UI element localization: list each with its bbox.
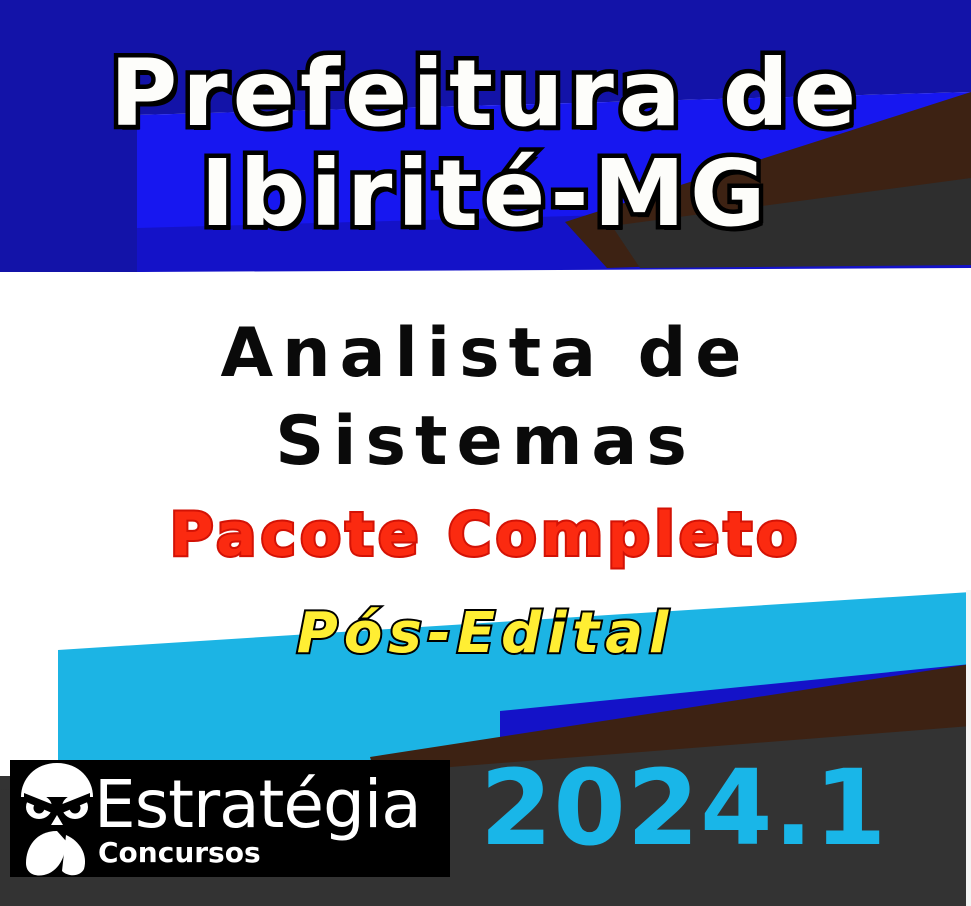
role-title-line-1: Analista de [0,320,971,388]
owl-icon [18,757,96,877]
package-label: Pacote Completo [0,505,971,565]
stage-badge: Pós-Edital [0,606,971,662]
year-label: 2024.1 [480,756,950,860]
role-title-line-2: Sistemas [0,408,971,476]
brand-subtitle: Concursos [98,836,261,869]
brand-name: Estratégia [94,766,421,843]
page-title-line-1: Prefeitura de [0,48,971,140]
page-title-line-2: Ibirité-MG [0,148,971,240]
brand-logo: Estratégia Concursos [10,760,450,877]
promo-banner: Prefeitura de Ibirité-MG Analista de Sis… [0,0,971,906]
